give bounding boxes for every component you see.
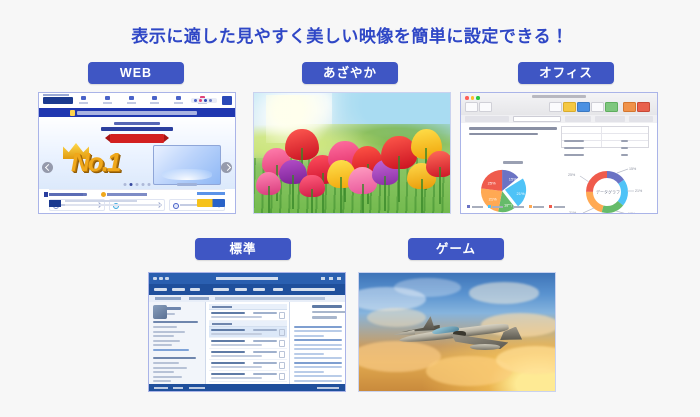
mail-title-bar [149,273,345,284]
office-document-body: 15% 21% 18% 21% 25% [461,123,657,213]
nav-icon-3[interactable] [127,96,136,106]
ribbon-button[interactable] [623,102,636,112]
donut-label-e: 25% [568,173,576,177]
message-row-selected[interactable] [209,327,287,338]
preview-panel-web[interactable]: No.1 [38,92,236,214]
ribbon-button-chart[interactable] [577,102,590,112]
message-body-line [294,339,342,341]
hero-ribbon-badge [110,134,164,143]
avatar [153,305,167,319]
mail-message-list[interactable] [206,302,290,391]
donut-chart: データグラフ 15% 21% 18% 21% 25% [567,165,647,214]
tulip-bloom [256,172,281,195]
website-search-box[interactable] [191,98,217,103]
minimize-icon [321,277,325,280]
ribbon-tab[interactable] [190,288,200,291]
office-ribbon-row [465,102,653,113]
tab-item[interactable] [465,116,509,122]
message-row[interactable] [209,338,287,349]
website-menu-button[interactable] [222,96,232,105]
table-row [562,141,648,147]
message-body-line [294,375,342,377]
folder-item-selected[interactable] [153,349,189,351]
mode-label-web[interactable]: WEB [88,62,184,84]
nav-icon-5[interactable] [174,96,183,106]
pie-chart-title [503,161,523,164]
leader-line [580,176,589,182]
link-card[interactable] [169,213,225,214]
footer-banner[interactable] [197,199,225,207]
mode-label-game[interactable]: ゲーム [408,238,504,260]
leader-line [583,208,594,213]
pie-label-a: 15% [509,176,517,181]
ribbon-group-right [623,102,653,113]
message-body-line [294,330,342,332]
carousel-dot[interactable] [136,183,139,186]
tab-item[interactable] [629,116,653,122]
website-link-section [39,189,235,213]
tab-item[interactable] [565,116,591,122]
donut-label-d: 21% [569,211,577,214]
folder-item[interactable] [153,362,179,364]
website-notice-bar[interactable] [39,108,235,117]
ribbon-button[interactable] [637,102,650,112]
donut-label-b: 21% [635,189,643,193]
mail-reading-pane[interactable] [290,302,345,391]
carousel-dot[interactable] [124,183,127,186]
message-body-line [294,348,342,350]
footer-news-heading [49,193,83,196]
legend-item [529,205,545,208]
footer-news-text [65,200,137,202]
mode-label-office[interactable]: オフィス [518,62,614,84]
donut-center-label: データグラフ [596,189,620,195]
ribbon-button[interactable] [591,102,604,112]
carousel-dots[interactable] [124,183,151,186]
pie-label-b: 21% [517,191,525,196]
message-body-line [294,371,324,373]
website-nav-items [79,96,207,106]
text-line [469,133,538,136]
leader-line [616,211,627,214]
ribbon-tab[interactable] [154,288,167,291]
maximize-icon [329,277,333,280]
message-date [312,316,337,319]
fighter-jet-photo [359,273,555,391]
page-title: 表示に適した見やすく美しい映像を簡単に設定できる！ [0,22,700,47]
pie-label-e: 25% [488,180,496,185]
message-row[interactable] [209,371,287,382]
folder-item[interactable] [153,367,187,369]
message-row[interactable] [209,349,287,360]
tulip-bloom [299,175,324,198]
carousel-dot-active[interactable] [130,183,133,186]
folder-item[interactable] [153,371,174,373]
slide-root: 表示に適した見やすく美しい映像を簡単に設定できる！ WEB あざやか オフィス … [0,0,700,417]
hero-no1-text: No.1 [71,147,119,178]
footer-more-link[interactable] [197,192,225,195]
message-row[interactable] [209,310,287,321]
carousel-prev-icon[interactable] [42,162,53,173]
footer-support-heading [107,193,147,196]
hero-subline [114,122,160,125]
pie-chart-legend [467,205,565,208]
message-body-line [294,357,342,359]
message-body-line [294,362,342,364]
mail-window-title [216,277,278,280]
message-body-line [294,380,342,382]
carousel-dot[interactable] [148,183,151,186]
pie-label-d: 21% [489,197,497,202]
hero-headline-line [101,127,173,131]
link-card[interactable] [49,213,105,214]
mail-status-bar [149,384,345,391]
office-toolbar [461,93,657,116]
text-line [469,127,557,130]
data-table [561,126,649,148]
minimize-icon[interactable] [471,96,475,100]
preview-panel-office[interactable]: 15% 21% 18% 21% 25% [460,92,658,214]
quick-access-toolbar[interactable] [153,277,169,281]
folder-item[interactable] [153,376,182,378]
window-buttons[interactable] [321,277,341,280]
tulip-bloom [426,151,451,177]
ribbon-button[interactable] [549,102,562,112]
tab-item[interactable] [595,116,625,122]
folder-item[interactable] [153,340,180,342]
carousel-dot[interactable] [142,183,145,186]
website-navbar [39,93,235,109]
legend-item [549,205,565,208]
folder-item[interactable] [153,326,177,328]
footer-thumb [49,200,61,207]
ribbon-group-left [465,102,503,113]
ribbon-button-fill[interactable] [563,102,576,112]
monitor-stand [177,183,197,186]
legend-item [488,205,504,208]
ribbon-tab[interactable] [273,288,283,291]
io-data-logo-icon [43,97,73,104]
message-row[interactable] [209,360,287,371]
maximize-icon[interactable] [476,96,480,100]
tab-item-active[interactable] [513,116,561,122]
link-card[interactable] [109,213,165,214]
carousel-next-icon[interactable] [221,162,232,173]
table-row [562,134,648,141]
mail-ribbon-tabs [149,284,345,295]
document-paragraph [469,127,557,138]
folder-item[interactable] [153,380,171,382]
folder-item[interactable] [153,344,172,346]
nav-icon-2[interactable] [103,96,112,106]
legend-item [508,205,524,208]
message-sender [312,305,342,308]
folder-item[interactable] [153,335,174,337]
ribbon-button-sort[interactable] [605,102,618,112]
cloud [469,282,540,303]
ribbon-group-center [549,102,619,113]
preview-panel-azayaka[interactable] [253,92,451,214]
preview-panel-hyojun[interactable] [148,272,346,392]
mode-label-hyojun[interactable]: 標準 [195,238,291,260]
website-hero-banner: No.1 [39,117,235,189]
message-subject [312,311,346,314]
donut-label-a: 15% [629,167,637,171]
preview-panel-game[interactable] [358,272,556,392]
jet-vertical-stabilizer [423,315,437,331]
message-body-line [294,335,324,337]
close-icon[interactable] [465,96,469,100]
cloud [394,278,461,297]
folder-group-title [153,321,198,324]
ribbon-tab[interactable] [172,288,185,291]
ribbon-tab[interactable] [235,288,247,291]
leader-line [617,169,628,173]
donut-chart-svg: データグラフ 15% 21% 18% 21% 25% [567,165,647,214]
message-body-line [294,344,342,346]
nav-icon-4[interactable] [150,96,159,106]
ribbon-button[interactable] [479,102,492,112]
tulip-bloom [285,129,318,160]
window-controls[interactable] [465,96,480,100]
website-footer [49,189,225,210]
mode-label-azayaka[interactable]: あざやか [302,62,398,84]
fighter-jet [390,313,527,358]
ribbon-tab[interactable] [253,288,265,291]
office-window-title [532,95,586,98]
ribbon-tab[interactable] [213,288,229,291]
table-row [562,127,648,134]
tulip-field-photo [254,93,450,213]
donut-label-c: 18% [628,212,636,214]
close-icon [337,277,341,280]
message-body-line [294,353,324,355]
legend-item [467,205,483,208]
ribbon-tab[interactable] [291,288,335,291]
jet-fuel-pod [470,344,500,349]
folder-group-title [153,357,196,360]
monitor-product-image [153,145,221,185]
message-body-line [294,326,342,328]
mail-panes [149,302,345,391]
message-body-line [294,366,342,368]
ribbon-button[interactable] [465,102,478,112]
nav-icon-1[interactable] [79,96,88,106]
folder-item[interactable] [153,331,185,333]
